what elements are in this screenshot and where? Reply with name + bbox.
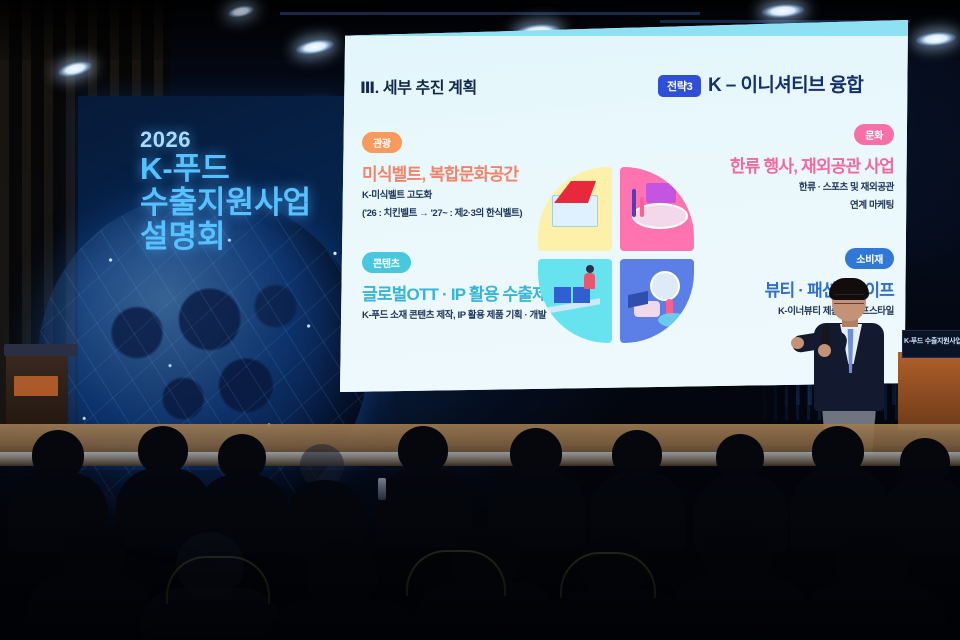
slide-title: K – 이니셔티브 융합 [708, 70, 863, 97]
illustration-concert-icon [620, 167, 694, 251]
quadrant-badge: 콘텐츠 [362, 252, 411, 273]
quadrant-badge: 소비재 [845, 248, 894, 269]
light-rig-bar [280, 12, 700, 15]
quadrant-badge: 관광 [362, 132, 402, 153]
banner-line-3: 설명회 [140, 221, 340, 254]
quadrant-sub-1: 한류 · 스포츠 및 재외공관 [730, 181, 894, 195]
quadrant-sub-1: K-푸드 소재 콘텐츠 제작, IP 활용 제품 기획 · 개발 [362, 309, 562, 323]
illustration-creator-desk-icon [538, 259, 612, 343]
foreground-shadow [0, 470, 960, 640]
wall-banner-text: 2026 K-푸드 수출지원사업 설명회 [140, 128, 340, 254]
four-quadrant-illustration [538, 167, 694, 343]
quadrant-contents: 콘텐츠 글로벌OTT · IP 활용 수출제품 K-푸드 소재 콘텐츠 제작, … [362, 252, 562, 323]
glasses-icon [834, 294, 864, 304]
quadrant-heading: 미식벨트, 복합문화공간 [362, 160, 522, 185]
banner-line-1: K-푸드 [140, 153, 340, 186]
left-podium-top [4, 344, 78, 356]
quadrant-culture: 문화 한류 행사, 재외공관 사업 한류 · 스포츠 및 재외공관 연계 마케팅 [730, 124, 894, 213]
quadrant-tourism: 관광 미식벨트, 복합문화공간 K-미식벨트 고도화 ('26 : 치킨벨트 →… [362, 132, 522, 221]
right-signage-text: K-푸드 수출지원사업 [904, 336, 960, 346]
slide-section-label: Ⅲ. 세부 추진 계획 [360, 74, 477, 98]
left-podium [6, 352, 68, 424]
quadrant-heading: 한류 행사, 재외공관 사업 [730, 152, 894, 177]
illustration-house-icon [538, 167, 612, 251]
illustration-cosmetics-icon [620, 259, 694, 343]
quadrant-badge: 문화 [854, 124, 894, 145]
quadrant-sub-2: ('26 : 치킨벨트 → '27~ : 제2·3의 한식벨트) [362, 207, 522, 221]
strategy-badge: 전략3 [658, 75, 701, 97]
right-podium [898, 352, 960, 430]
screenshot-root: 2026 K-푸드 수출지원사업 설명회 Ⅲ. 세부 추진 계획 전략3 K –… [0, 0, 960, 640]
quadrant-heading: 글로벌OTT · IP 활용 수출제품 [362, 280, 562, 305]
banner-line-2: 수출지원사업 [140, 187, 340, 220]
quadrant-sub-2: 연계 마케팅 [730, 199, 894, 213]
quadrant-sub-1: K-미식벨트 고도화 [362, 189, 522, 203]
banner-year: 2026 [140, 128, 340, 151]
